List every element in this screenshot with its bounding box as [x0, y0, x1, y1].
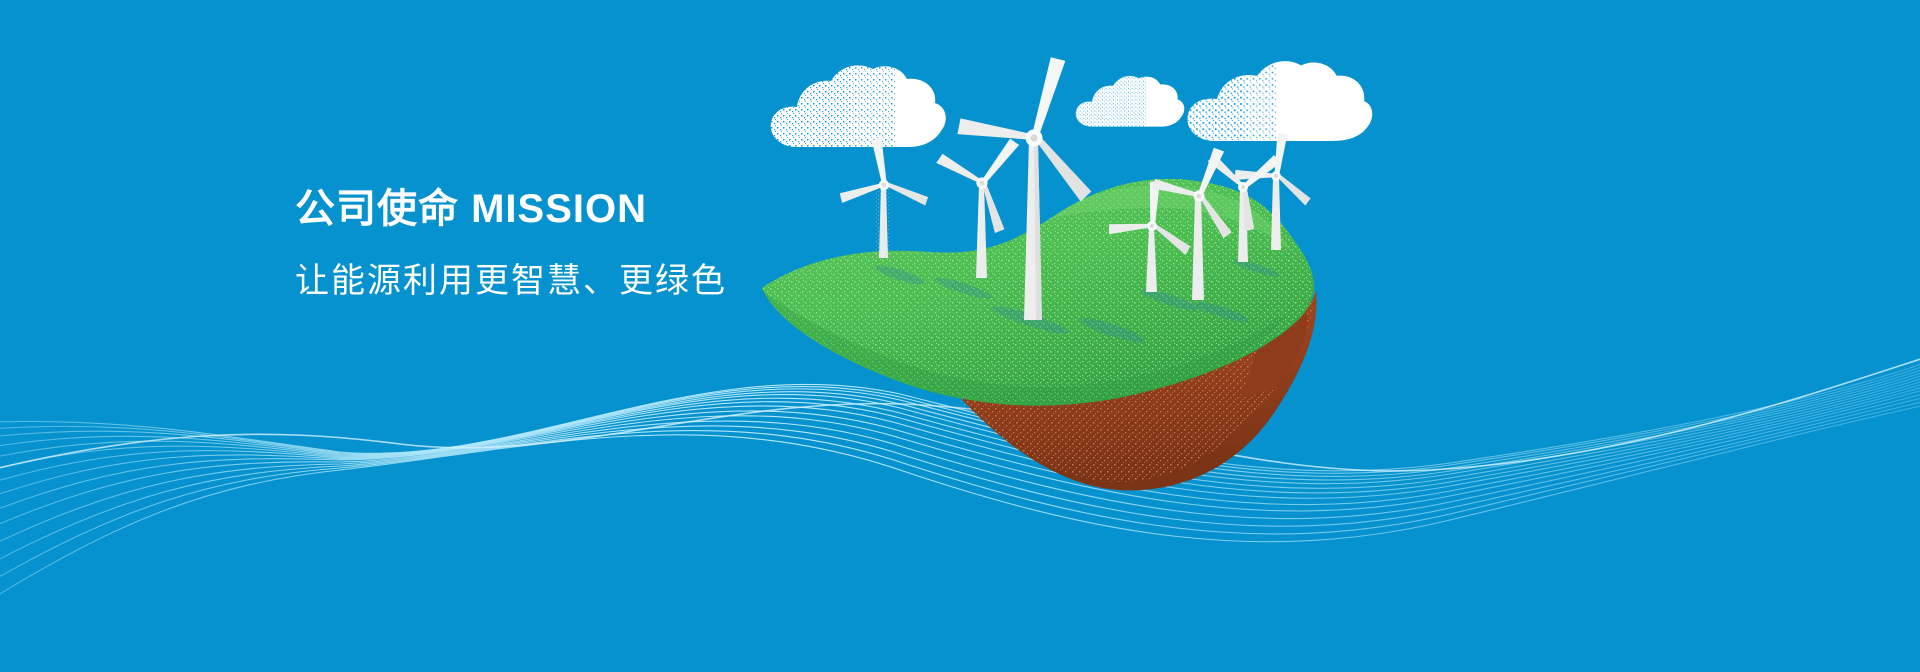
cloud-left [765, 59, 946, 151]
mission-banner: 公司使命 MISSION 让能源利用更智慧、更绿色 [0, 0, 1920, 672]
illustration-floating-island [0, 0, 1920, 672]
page-title: 公司使命 MISSION [295, 185, 727, 233]
cloud-right [1181, 55, 1372, 147]
cloud-middle [1072, 72, 1184, 129]
mission-text-block: 公司使命 MISSION 让能源利用更智慧、更绿色 [295, 185, 727, 303]
page-subtitle: 让能源利用更智慧、更绿色 [295, 259, 727, 303]
turbine-3 [833, 133, 929, 258]
